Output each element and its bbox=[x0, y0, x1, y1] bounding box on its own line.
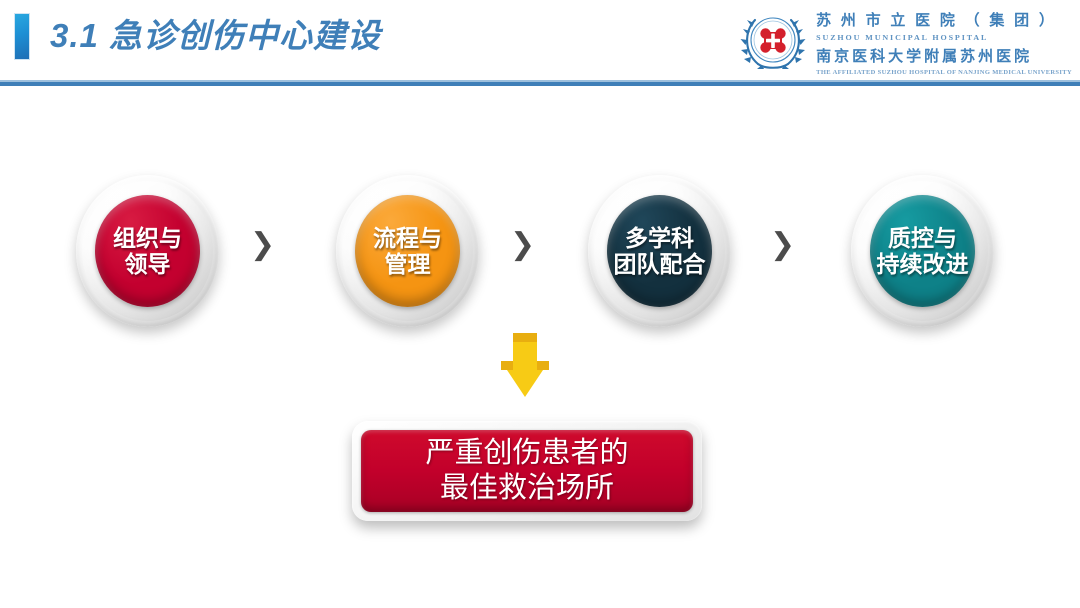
node-label-1-line2: 领导 bbox=[113, 251, 182, 277]
node-disc: 流程与 管理 bbox=[355, 195, 460, 307]
process-node-2[interactable]: 流程与 管理 bbox=[336, 175, 479, 327]
node-label-2-line2: 管理 bbox=[373, 251, 442, 277]
result-callout[interactable]: 严重创伤患者的 最佳救治场所 bbox=[352, 421, 702, 521]
process-node-3[interactable]: 多学科 团队配合 bbox=[588, 175, 731, 327]
hospital-seal-emblem bbox=[738, 6, 808, 76]
title-accent-bar bbox=[14, 13, 30, 60]
result-text-line2: 最佳救治场所 bbox=[425, 471, 628, 506]
chevron-right-icon-1: ❯ bbox=[250, 228, 274, 262]
chevron-right-icon-2: ❯ bbox=[510, 228, 534, 262]
node-disc: 多学科 团队配合 bbox=[607, 195, 712, 307]
node-label-1: 组织与 领导 bbox=[113, 225, 182, 278]
node-label-4-line1: 质控与 bbox=[888, 225, 957, 251]
result-fill: 严重创伤患者的 最佳救治场所 bbox=[361, 430, 693, 512]
node-label-3-line2: 团队配合 bbox=[614, 251, 706, 277]
logo-line2-cn: 南京医科大学附属苏州医院 bbox=[816, 45, 1072, 66]
node-label-2-line1: 流程与 bbox=[373, 225, 442, 251]
process-node-4[interactable]: 质控与 持续改进 bbox=[851, 175, 994, 327]
logo-line1-cn: 苏 州 市 立 医 院 （ 集 团 ） bbox=[816, 9, 1072, 30]
chevron-right-icon-3: ❯ bbox=[770, 228, 794, 262]
node-disc: 组织与 领导 bbox=[95, 195, 200, 307]
node-label-2: 流程与 管理 bbox=[373, 225, 442, 278]
header-rule bbox=[0, 82, 1080, 86]
logo-line2-en: THE AFFILIATED SUZHOU HOSPITAL OF NANJIN… bbox=[816, 69, 1072, 75]
process-node-1[interactable]: 组织与 领导 bbox=[76, 175, 219, 327]
node-label-4: 质控与 持续改进 bbox=[877, 225, 969, 278]
logo-line1-en: SUZHOU MUNICIPAL HOSPITAL bbox=[816, 33, 1072, 41]
slide-header: 3.1 急诊创伤中心建设 bbox=[0, 0, 1080, 88]
logo-text-block: 苏 州 市 立 医 院 （ 集 团 ） SUZHOU MUNICIPAL HOS… bbox=[816, 7, 1072, 76]
node-label-1-line1: 组织与 bbox=[113, 225, 182, 251]
hospital-logo: 苏 州 市 立 医 院 （ 集 团 ） SUZHOU MUNICIPAL HOS… bbox=[738, 4, 1072, 78]
down-arrow-icon bbox=[494, 333, 556, 405]
result-text: 严重创伤患者的 最佳救治场所 bbox=[425, 436, 628, 507]
page-title: 3.1 急诊创伤中心建设 bbox=[50, 9, 381, 63]
node-label-3-line1: 多学科 bbox=[625, 225, 694, 251]
node-disc: 质控与 持续改进 bbox=[870, 195, 975, 307]
result-text-line1: 严重创伤患者的 bbox=[425, 437, 628, 469]
node-label-4-line2: 持续改进 bbox=[877, 251, 969, 277]
node-label-3: 多学科 团队配合 bbox=[614, 225, 706, 278]
